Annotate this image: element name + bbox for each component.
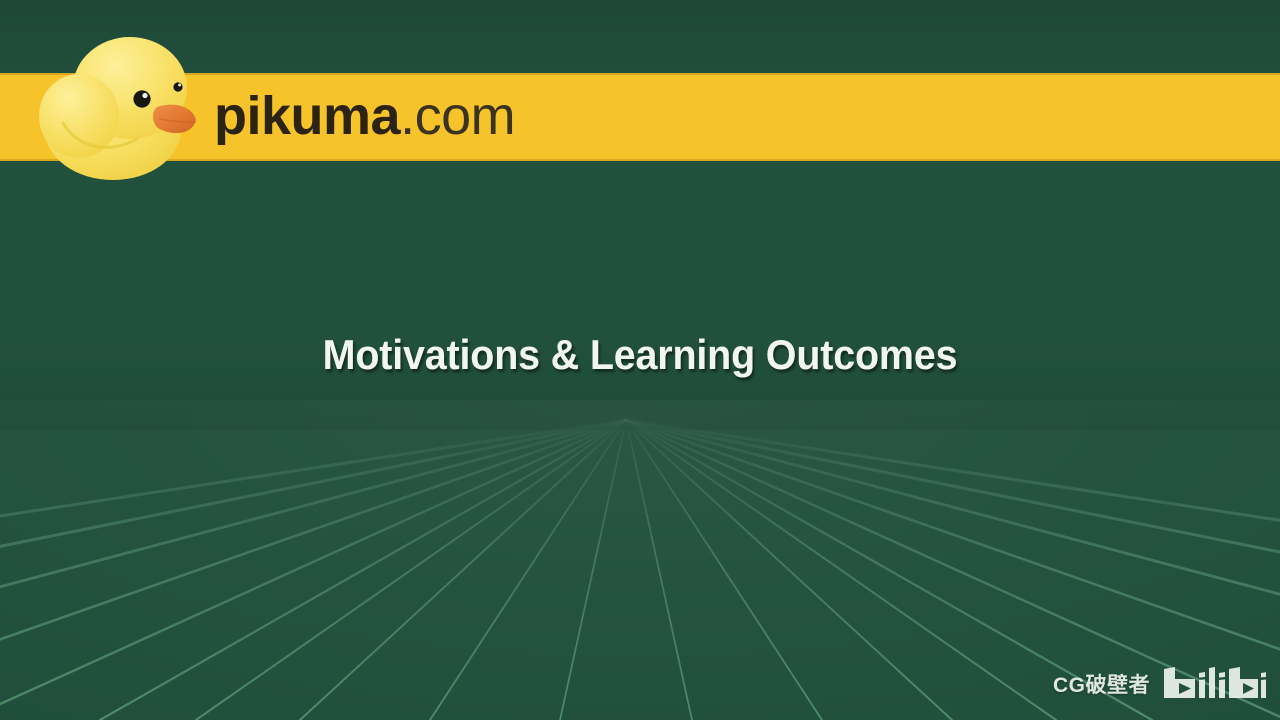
duck-svg (33, 31, 205, 186)
duck-eye-far-glint (178, 84, 181, 87)
bilibili-logo-icon (1162, 664, 1266, 704)
duck-eye-near (133, 90, 150, 107)
slide-title-part-2: Learning Outcomes (590, 331, 958, 378)
watermark: CG破壁者 (1053, 664, 1266, 704)
brand-tld: .com (400, 86, 515, 146)
duck-eye-far (173, 82, 182, 91)
watermark-label: CG破壁者 (1053, 669, 1150, 699)
duck-cheek (39, 74, 119, 158)
duck-eye-near-glint (142, 93, 147, 98)
bilibili-logo-svg (1162, 664, 1266, 704)
brand-name: pikuma (214, 86, 400, 146)
slide-title-ampersand: & (551, 331, 579, 378)
brand-wordmark: pikuma.com (214, 86, 515, 146)
duck-icon (33, 31, 205, 186)
slide-title-part-1: Motivations (323, 331, 540, 378)
presentation-slide: pikuma.com (0, 0, 1280, 720)
slide-title: Motivations & Learning Outcomes (38, 326, 1241, 384)
